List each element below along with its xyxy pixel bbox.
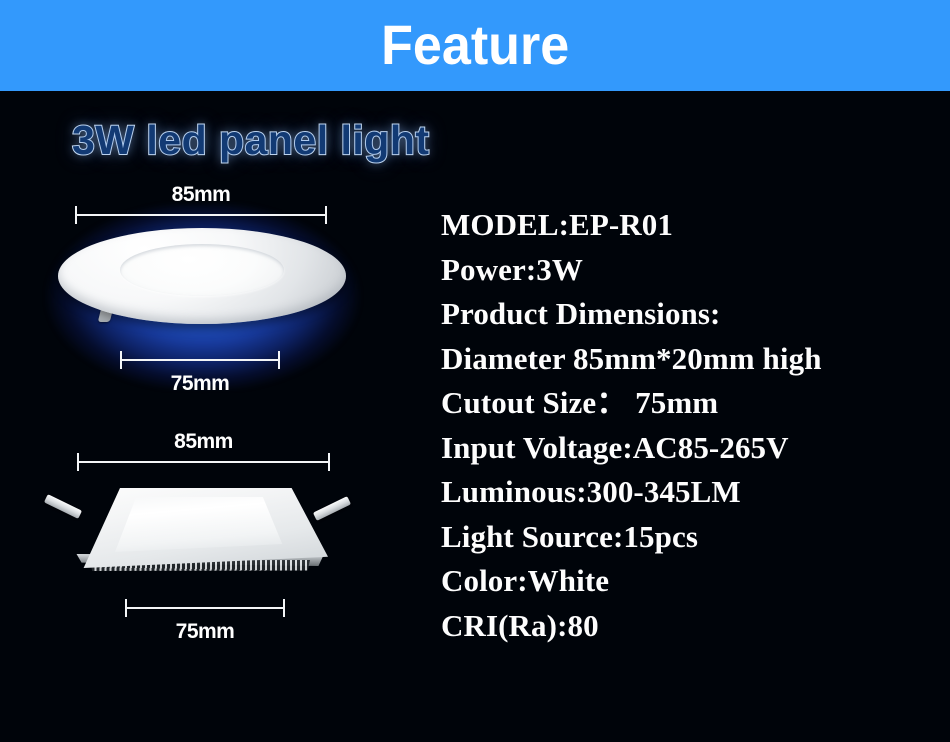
spec-line-luminous: Luminous:300-345LM bbox=[441, 470, 946, 515]
spec-line-power: Power:3W bbox=[441, 248, 946, 293]
square-panel-diffuser bbox=[108, 497, 284, 553]
square-outer-dimension-label: 85mm bbox=[77, 431, 330, 452]
specification-list: MODEL:EP-R01 Power:3W Product Dimensions… bbox=[441, 203, 946, 648]
square-panel-illustration: 85mm 75mm bbox=[0, 436, 420, 656]
round-panel-diffuser bbox=[120, 244, 284, 296]
header-banner: Feature bbox=[0, 0, 950, 91]
spec-line-cri: CRI(Ra):80 bbox=[441, 604, 946, 649]
spec-line-dimensions: Product Dimensions: bbox=[441, 292, 946, 337]
round-cutout-dimension-label: 75mm bbox=[120, 373, 280, 394]
banner-title: Feature bbox=[381, 17, 569, 73]
spec-line-color: Color:White bbox=[441, 559, 946, 604]
spec-line-input-voltage: Input Voltage:AC85-265V bbox=[441, 426, 946, 471]
square-cutout-dimension: 75mm bbox=[125, 599, 285, 619]
dimension-line bbox=[78, 461, 329, 463]
square-panel-spring-clip-left bbox=[44, 494, 82, 519]
square-panel-spring-clip-right bbox=[313, 496, 351, 521]
square-outer-dimension: 85mm bbox=[77, 453, 330, 473]
feature-page: Feature 3W led panel light 85mm bbox=[0, 0, 950, 742]
round-panel-body bbox=[58, 228, 346, 336]
product-title: 3W led panel light bbox=[72, 120, 430, 161]
dimension-line bbox=[121, 359, 279, 361]
dimension-line bbox=[126, 607, 284, 609]
round-panel-face bbox=[58, 228, 346, 324]
spec-line-model: MODEL:EP-R01 bbox=[441, 203, 946, 248]
spec-line-diameter: Diameter 85mm*20mm high bbox=[441, 337, 946, 382]
round-panel-illustration: 85mm 75mm bbox=[0, 186, 420, 401]
content-area: 3W led panel light 85mm bbox=[0, 91, 950, 742]
spec-line-cutout-size: Cutout Size： 75mm bbox=[441, 381, 946, 426]
square-cutout-dimension-label: 75mm bbox=[125, 621, 285, 642]
dimension-line bbox=[76, 214, 326, 216]
round-outer-dimension: 85mm bbox=[75, 206, 327, 226]
spec-line-light-source: Light Source:15pcs bbox=[441, 515, 946, 560]
round-cutout-dimension: 75mm bbox=[120, 351, 280, 371]
square-panel-body bbox=[68, 488, 328, 574]
round-outer-dimension-label: 85mm bbox=[75, 184, 327, 205]
